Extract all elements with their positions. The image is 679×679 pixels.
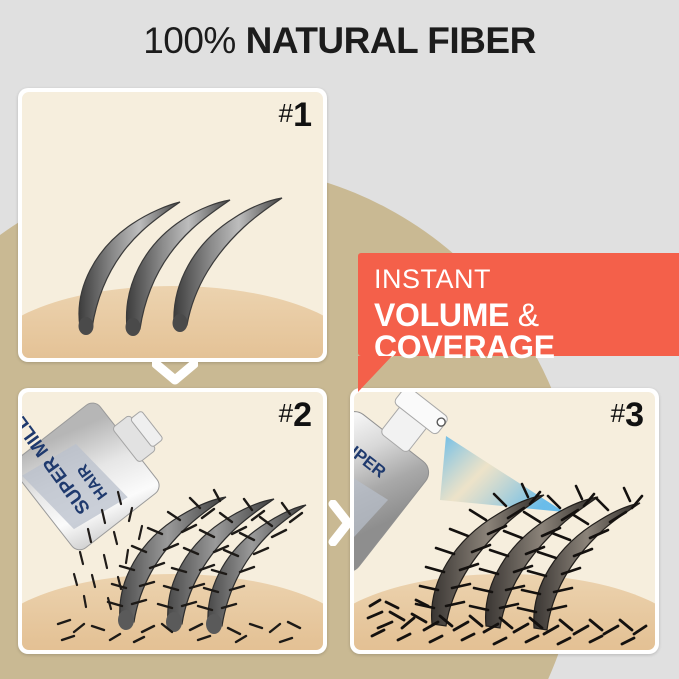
hash-symbol: # <box>611 398 625 428</box>
panel-3-number: #3 <box>611 398 644 432</box>
step-panel-1: #1 <box>18 88 327 362</box>
callout-line-2: VOLUME & COVERAGE <box>374 299 679 364</box>
callout-coverage: COVERAGE <box>374 329 555 365</box>
callout-volume: VOLUME <box>374 297 509 333</box>
arrow-step1-to-step2 <box>152 360 198 386</box>
panel-1-number: #1 <box>279 98 312 132</box>
callout-banner: INSTANT VOLUME & COVERAGE <box>358 253 679 356</box>
callout-line-1: INSTANT <box>374 266 679 294</box>
infographic-canvas: 100% NATURAL FIBER #1 <box>0 0 679 679</box>
chevron-right-icon <box>328 500 354 546</box>
panel-3-scene: #3 <box>354 392 655 650</box>
hash-symbol: # <box>279 398 293 428</box>
title-main: NATURAL FIBER <box>246 20 536 61</box>
hash-symbol: # <box>279 98 293 128</box>
page-title: 100% NATURAL FIBER <box>143 20 536 62</box>
panel-2-scene: #2 <box>22 392 323 650</box>
header-bar: 100% NATURAL FIBER <box>0 0 679 82</box>
thick-hair-strands <box>432 495 640 630</box>
callout-text: INSTANT VOLUME & COVERAGE <box>374 266 679 364</box>
step-digit: 2 <box>293 396 312 434</box>
panel-1-scene: #1 <box>22 92 323 358</box>
step-digit: 3 <box>625 396 644 434</box>
arrow-step2-to-step3 <box>328 500 354 546</box>
chevron-down-icon <box>152 360 198 386</box>
step-panel-2: #2 <box>18 388 327 654</box>
title-percent: 100% <box>143 20 236 61</box>
panel-2-number: #2 <box>279 398 312 432</box>
step-digit: 1 <box>293 96 312 134</box>
step-panel-3: #3 <box>350 388 659 654</box>
callout-ampersand: & <box>518 297 539 333</box>
